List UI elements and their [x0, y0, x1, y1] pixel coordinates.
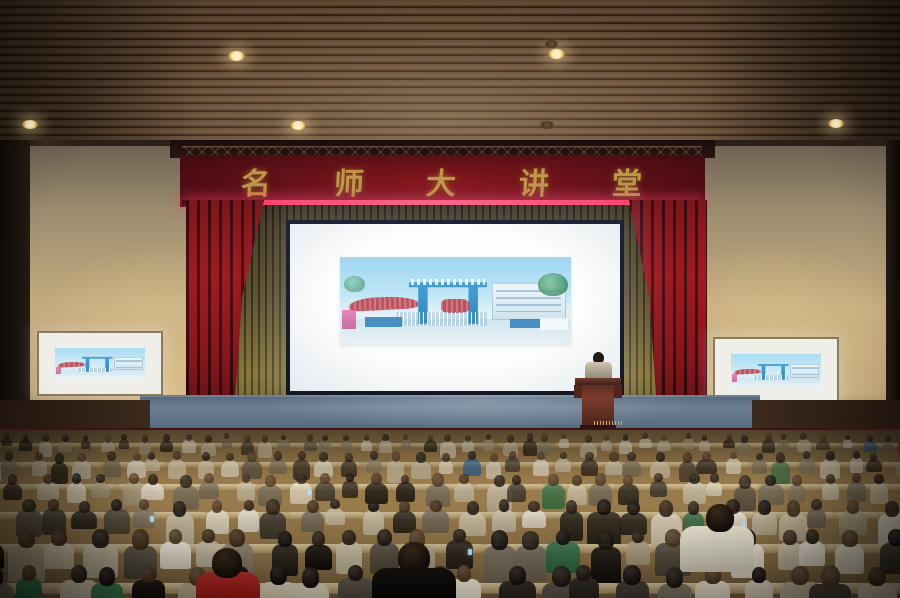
left-side-screen — [37, 331, 163, 396]
audience-member-torso — [522, 510, 546, 528]
audience-member-head — [270, 565, 287, 585]
audience-member-torso — [726, 458, 740, 474]
audience-member-torso — [454, 482, 475, 502]
audience-member-torso — [222, 438, 233, 448]
audience-member-torso — [533, 459, 549, 477]
slide-tree-left — [344, 276, 365, 292]
audience-member-head — [787, 500, 801, 517]
audience-member-head — [885, 435, 891, 442]
audience-member-head — [702, 435, 707, 440]
audience-member-head — [800, 433, 807, 440]
audience-member-head — [598, 531, 614, 550]
audience-member-head — [566, 500, 578, 514]
audience-member-head — [368, 500, 379, 512]
audience-member-torso — [424, 440, 437, 452]
audience-member-head — [229, 529, 245, 546]
audience-member-head — [247, 451, 256, 462]
audience-member-head — [55, 453, 64, 464]
audience-member-torso — [822, 482, 838, 500]
audience-member-torso — [843, 439, 852, 448]
audience-member-torso — [342, 480, 358, 497]
left-side-slide — [55, 348, 145, 380]
audience-member-head — [627, 501, 640, 516]
audience-member-head — [710, 473, 719, 483]
audience-member-torso — [141, 483, 164, 500]
left-wall-edge — [0, 140, 30, 440]
audience-member-head — [302, 567, 319, 588]
audience-member-head — [888, 529, 900, 546]
audience-member-torso — [492, 510, 516, 533]
audience-member-torso — [507, 483, 526, 501]
audience-member-head — [432, 473, 444, 487]
audience-member-head — [507, 435, 514, 443]
slide-pink-banner — [342, 310, 356, 329]
audience-member-head — [92, 529, 109, 547]
audience-member-head — [509, 451, 516, 459]
audience-member-head — [867, 435, 873, 441]
audience-member-head — [806, 529, 820, 544]
audience-member-torso — [51, 462, 68, 484]
audience-member-head — [868, 567, 886, 587]
audience-member-head — [803, 451, 810, 459]
audience-member-torso — [379, 440, 392, 453]
audience-member-head — [826, 451, 835, 461]
phone-screen — [308, 490, 311, 495]
audience-member-head — [556, 530, 571, 545]
audience-member-torso — [305, 545, 332, 570]
audience-member-head — [654, 473, 663, 482]
audience-member-torso — [788, 484, 807, 502]
audience-member-head — [133, 453, 141, 462]
audience-member-torso — [542, 484, 565, 509]
audience-member-torso — [103, 459, 121, 477]
audience-member-head — [490, 453, 498, 462]
audience-member-head — [842, 530, 858, 546]
audience-member-torso — [338, 578, 373, 598]
audience-member-head — [661, 435, 667, 441]
banner-char-4: 讲 — [518, 159, 552, 203]
audience-member-head — [35, 452, 43, 461]
audience-member-head — [465, 435, 471, 442]
audience-member-torso — [411, 461, 432, 478]
right-slide-pink-banner — [732, 374, 737, 381]
audience-member-torso — [650, 480, 667, 497]
audience-member-head — [148, 474, 158, 485]
right-slide-building — [790, 364, 819, 378]
audience-member-head — [541, 434, 548, 441]
audience-member-head — [552, 566, 571, 587]
audience-member-head — [847, 500, 859, 513]
audience-member-head — [442, 453, 450, 462]
banner-char-3: 大 — [425, 159, 459, 203]
audience-member-head — [298, 451, 306, 461]
audience-member-head — [467, 501, 479, 515]
audience-member-torso — [71, 511, 97, 530]
audience-member-torso — [81, 440, 91, 450]
audience-member-torso — [144, 458, 160, 471]
audience-member-head — [348, 565, 363, 581]
audience-member-torso — [657, 440, 671, 451]
audience-member-torso — [160, 542, 191, 570]
audience-member-head — [62, 435, 69, 443]
audience-member-torso — [58, 441, 72, 453]
audience-member-torso — [738, 442, 751, 457]
audience-member-head — [111, 499, 122, 511]
audience-member-torso — [847, 481, 866, 502]
audience-member-head — [242, 473, 251, 483]
audience-member-head — [560, 452, 567, 459]
audience-member-head — [623, 565, 641, 585]
audience-member-torso — [777, 439, 790, 449]
audience-member-torso — [752, 459, 767, 474]
slide-red-canopy — [348, 295, 418, 312]
audience-member-torso — [555, 458, 570, 472]
audience-member-head — [212, 500, 222, 513]
slide-gate-fence — [395, 312, 487, 325]
audience-member-torso — [44, 543, 74, 570]
banner-char-5: 堂 — [611, 159, 645, 203]
audience-member-torso — [835, 544, 864, 574]
audience-member-torso — [883, 441, 894, 451]
audience-member-torso — [816, 440, 830, 450]
audience-member-head — [491, 530, 508, 550]
audience-member-head — [132, 529, 149, 549]
audience-member-head — [604, 434, 609, 440]
audience-member-head — [686, 433, 691, 438]
audience-member-head — [765, 475, 776, 486]
audience-member-head — [265, 475, 276, 487]
audience-member-torso — [626, 541, 649, 565]
audience-member-white-hoodie — [680, 526, 754, 572]
desk-3 — [835, 484, 900, 490]
audience-member-head — [5, 451, 14, 461]
audience-member-head — [266, 499, 279, 515]
audience-member-head — [430, 500, 442, 512]
phone-screen — [150, 516, 154, 522]
audience-member-head — [43, 474, 53, 484]
audience-member-head — [870, 453, 877, 460]
audience-member-torso — [258, 441, 272, 458]
audience-member-head — [180, 475, 191, 488]
audience-member-head — [758, 500, 771, 515]
audience-member-head — [22, 499, 36, 513]
audience-member-torso — [870, 482, 889, 504]
audience-member-torso — [277, 439, 289, 448]
audience-member-head — [457, 565, 472, 582]
slide-tree-right — [538, 273, 568, 296]
right-wall-edge — [886, 140, 900, 440]
audience-member-torso — [315, 482, 335, 501]
right-slide-fence — [753, 375, 789, 380]
downlight-7-icon — [828, 119, 844, 128]
audience-member-head — [320, 473, 330, 484]
audience-member-head — [632, 531, 644, 544]
audience-member-torso — [37, 482, 58, 500]
downlight-4-icon — [22, 120, 38, 129]
audience-member-head — [727, 434, 732, 440]
downlight-6-icon — [540, 121, 554, 129]
right-slide-red-canopy — [734, 369, 761, 375]
audience-member-torso — [3, 483, 22, 500]
audience-member-head — [826, 474, 835, 484]
audience-member-head — [702, 452, 711, 461]
audience-member-torso — [341, 440, 352, 453]
audience-member-head — [342, 530, 356, 546]
audience-member-torso — [706, 481, 723, 496]
downlight-3-icon — [545, 40, 558, 48]
audience-member-head — [204, 473, 214, 483]
audience-member-head — [791, 566, 809, 585]
audience-member-head — [683, 452, 692, 463]
audience-member-head — [105, 435, 111, 442]
audience-member-torso — [91, 482, 110, 499]
left-slide-building — [114, 357, 143, 370]
audience-member-head — [163, 434, 170, 442]
audience-member-torso — [182, 439, 196, 453]
slide-red-decor — [441, 299, 469, 313]
audience-member-head — [141, 567, 155, 583]
audience-member-head — [820, 434, 826, 440]
audience-member-head — [416, 452, 425, 463]
audience-member-head — [224, 433, 229, 439]
audience-member-head — [4, 433, 9, 438]
audience-member-head — [665, 529, 681, 547]
audience-member-head — [874, 474, 884, 484]
audience-member-torso — [396, 482, 415, 502]
audience-member-head — [343, 435, 349, 441]
audience-member-head — [262, 435, 269, 443]
audience-member-head — [186, 434, 193, 441]
audience-member-head — [8, 474, 17, 484]
audience-member-torso — [605, 460, 623, 475]
audience-member-head — [741, 435, 748, 443]
audience-member-torso — [237, 481, 255, 501]
audience-member-torso — [866, 459, 882, 472]
audience-member-head — [522, 531, 539, 549]
audience-member-torso — [799, 457, 815, 473]
audience-member-head — [371, 473, 382, 485]
audience-member-torso — [699, 440, 709, 452]
audience-member-head — [345, 453, 353, 462]
audience-member-torso — [1, 438, 12, 446]
audience-member-torso — [639, 438, 652, 448]
audience-member-head — [205, 435, 212, 443]
audience-member-head — [468, 451, 476, 460]
audience-member-head — [527, 433, 534, 441]
audience-member-head — [399, 501, 410, 513]
audience-member-torso — [361, 440, 372, 451]
audience-member-head — [509, 566, 526, 585]
audience-member-head — [752, 567, 766, 583]
audience-member-head — [202, 452, 210, 461]
left-slide-red-canopy — [58, 361, 85, 367]
downlight-2-icon — [548, 49, 565, 59]
desk-1 — [788, 443, 840, 448]
desk-1 — [672, 443, 724, 448]
audience-member-head — [459, 474, 468, 484]
audience-member-head — [548, 474, 559, 486]
audience-member-torso — [463, 458, 480, 475]
audience-member-head — [71, 565, 88, 583]
audience-member-head — [656, 452, 665, 462]
audience-member-torso — [483, 439, 493, 451]
audience-member-torso — [366, 458, 382, 473]
audience-member-torso — [523, 440, 538, 457]
audience-member-head — [274, 451, 282, 461]
audience-member-torso — [807, 508, 827, 528]
audience-member-head — [756, 453, 763, 460]
banner-char-2: 师 — [333, 159, 367, 203]
audience-member-torso — [238, 509, 259, 531]
audience-member-head — [77, 453, 85, 462]
audience-member-head — [512, 475, 521, 486]
audience-member-torso — [569, 578, 599, 598]
audience-member-torso — [32, 460, 47, 476]
audience-member-head — [585, 452, 593, 461]
audience-member-torso — [16, 578, 42, 598]
audience-member-torso — [160, 440, 173, 453]
audience-member-torso — [422, 510, 449, 533]
audience-member-head — [885, 501, 899, 516]
audience-member-torso — [221, 460, 239, 477]
audience-member-head — [776, 452, 785, 463]
audience-member-head — [173, 501, 186, 517]
audience-member-head — [226, 453, 234, 461]
phone-screen — [468, 549, 472, 556]
audience-member-head — [765, 433, 772, 441]
audience-member-head — [627, 452, 636, 461]
audience-member-head — [121, 434, 126, 440]
audience-member-head — [278, 531, 291, 547]
ceiling-wood-slats — [0, 0, 900, 152]
audience-member-head — [609, 452, 618, 462]
audience-member-head — [403, 434, 408, 440]
audience-member-torso — [505, 457, 521, 472]
banner-char-1: 名 — [240, 159, 274, 203]
audience-member-head — [392, 451, 401, 461]
audience-member-head — [107, 451, 116, 461]
left-slide-pink-banner — [56, 367, 61, 374]
audience-member-torso — [439, 460, 453, 474]
audience-member-torso — [601, 440, 613, 451]
audience-member-head — [51, 529, 67, 545]
audience-member-head — [370, 451, 378, 460]
audience-member-head — [296, 473, 307, 484]
audience-member-head — [572, 475, 582, 486]
audience-member-head — [453, 529, 465, 543]
audience-member-head — [346, 473, 354, 482]
audience-member-head — [597, 499, 611, 515]
audience-member-head — [22, 565, 36, 581]
audience-member-torso — [863, 441, 876, 453]
audience-member-head — [688, 501, 699, 514]
audience-member-head — [148, 452, 155, 460]
screen-surface — [290, 224, 620, 391]
audience-member-head — [623, 475, 634, 486]
audience-member-torso — [199, 481, 219, 498]
slide-white-panel — [540, 318, 568, 330]
slide-notice-board-right — [510, 319, 540, 329]
audience-member-head — [79, 501, 90, 513]
audience-member-red-jacket-head — [212, 548, 242, 578]
audience-member-head — [322, 435, 328, 442]
audience-member-head — [494, 475, 505, 487]
audience-member-torso — [269, 459, 287, 474]
podium-wing-right — [613, 385, 622, 398]
audience-member-head — [499, 499, 510, 512]
audience-seating-area: ARE NOT R KGUN — [0, 430, 900, 598]
audience-member-head — [319, 452, 327, 462]
audience-member-head — [739, 475, 751, 489]
audience-member-torso — [401, 439, 411, 450]
audience-member-head — [853, 451, 860, 459]
audience-member-torso — [301, 511, 324, 533]
audience-member-head — [401, 475, 410, 484]
audience-member-head — [659, 500, 673, 517]
downlight-1-icon — [228, 51, 245, 61]
audience-member-head — [169, 529, 182, 544]
audience-member-head — [99, 567, 115, 586]
audience-member-head — [202, 529, 215, 543]
audience-member-torso — [325, 508, 346, 525]
audience-member-head — [689, 473, 700, 485]
audience-member-black-jacket-head — [398, 542, 430, 574]
audience-member-head — [537, 452, 545, 460]
audience-member-head — [83, 435, 88, 440]
audience-member-torso — [19, 439, 31, 451]
audience-member-white-hoodie-head — [706, 504, 734, 532]
audience-member-torso — [559, 438, 569, 448]
audience-member-torso — [696, 459, 716, 474]
audience-member-head — [783, 530, 796, 545]
audience-member-head — [42, 434, 49, 442]
audience-member-head — [244, 500, 254, 511]
audience-member-torso — [762, 439, 775, 453]
speaker-podium — [572, 352, 624, 430]
audience-member-head — [96, 474, 105, 483]
audience-member-head — [585, 435, 592, 443]
audience-member-head — [244, 435, 251, 442]
audience-member-torso — [850, 457, 863, 473]
audience-member-torso — [304, 440, 318, 452]
left-slide-fence — [77, 368, 113, 373]
audience-member-head — [364, 435, 369, 441]
audience-member-head — [595, 473, 606, 486]
audience-member-torso — [752, 512, 777, 535]
audience-member-head — [142, 435, 149, 443]
audience-member-head — [811, 499, 821, 510]
slide-arch-signage — [411, 279, 485, 285]
audience-member-torso — [723, 439, 735, 449]
auditorium-photo: 名 师 大 讲 堂 — [0, 0, 900, 598]
audience-member-torso — [683, 438, 694, 449]
downlight-5-icon — [290, 121, 306, 130]
audience-member-head — [528, 501, 539, 513]
audience-member-head — [792, 475, 801, 486]
audience-member-head — [377, 529, 392, 547]
audience-member-head — [821, 565, 840, 588]
audience-member-head — [18, 531, 35, 549]
audience-member-torso — [797, 439, 811, 452]
audience-member-torso — [67, 482, 86, 503]
audience-member-torso — [799, 541, 825, 566]
audience-member-torso — [104, 509, 130, 534]
audience-member-head — [576, 565, 591, 581]
slide-notice-board-left — [365, 317, 402, 328]
podium-lectern-top — [575, 378, 621, 385]
audience-member-torso — [581, 459, 599, 476]
audience-member-torso — [119, 439, 129, 449]
